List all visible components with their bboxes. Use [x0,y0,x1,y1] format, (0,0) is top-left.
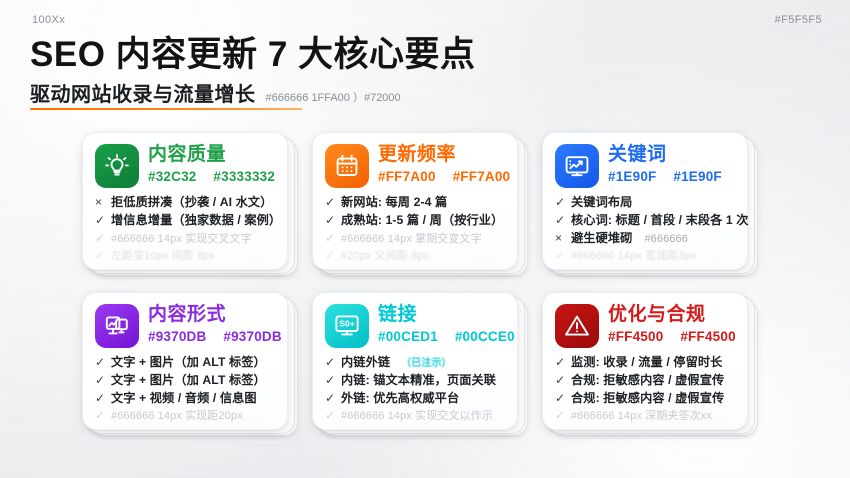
bullet-mark-icon: ✓ [95,390,106,408]
bullet-mark-icon: ✓ [555,247,566,265]
corner-tag-right: #F5F5F5 [775,14,822,26]
bullet-text: 避生硬堆砌 [571,230,632,248]
card-hex-primary: #32C32 [148,169,197,184]
bullet-mark-icon: ✓ [325,372,336,390]
bullet-text: #666666 14px 深期夹筌次xx [571,408,712,424]
monitor-chart-icon [555,144,599,188]
card-hex-codes: #32C32 #3333332 [148,169,275,184]
card-header: 内容质量 #32C32 #3333332 [95,144,277,188]
card-bullet: ✓ 核心词: 标题 / 首段 / 末段各 1 次 [555,212,737,230]
subtitle-row: 驱动网站收录与流量增长 #666666 1FFA00 ）#72000 [30,78,401,107]
card-bullet: ✓ #666666 14px 宽润距3px [555,247,737,265]
bullet-text: #666666 14px 掌期交变文字 [341,231,482,247]
card-bullet: × 拒低质拼凑（抄袭 / AI 水文） [95,194,277,212]
bullet-tag: （已注示） [401,357,452,372]
bullet-text: 文字 + 视频 / 音频 / 信息图 [111,390,257,408]
card-header: 关键词 #1E90F #1E90F [555,144,737,188]
card-hex-codes: #FF4500 #FF4500 [608,329,736,344]
image-screen-icon [95,304,139,348]
bullet-text: 核心词: 标题 / 首段 / 末段各 1 次 [571,212,749,230]
card-bullet: ✓ #666666 14px 深期夹筌次xx [555,407,737,425]
warning-triangle-icon [555,304,599,348]
bullet-mark-icon: ✓ [555,212,566,230]
card-header: 更新频率 #FF7A00 #FF7A00 [325,144,507,188]
card-grid: 内容质量 #32C32 #3333332 × 拒低质拼凑（抄袭 / AI 水文）… [82,132,754,434]
card-bullet: ✓ 内链: 锚文本精准，页面关联 [325,372,507,390]
card-hex-secondary: #1E90F [673,169,721,184]
card-hex-primary: #FF7A00 [378,169,436,184]
card-bullet: ✓ 文字 + 视频 / 音频 / 信息图 [95,390,277,408]
bullet-mark-icon: ✓ [325,194,336,212]
card-face[interactable]: 内容质量 #32C32 #3333332 × 拒低质拼凑（抄袭 / AI 水文）… [82,132,288,270]
card-bullet: ✓ 监测: 收录 / 流量 / 停留时长 [555,354,737,372]
card-heading-block: 优化与合规 #FF4500 #FF4500 [608,304,736,344]
card-title: 优化与合规 [608,305,736,326]
card-face[interactable]: 关键词 #1E90F #1E90F ✓ 关键词布局 ✓ 核心词: 标题 / 首段… [542,132,748,270]
card-bullet-list: ✓ 文字 + 图片（加 ALT 标签） ✓ 文字 + 图片（加 ALT 标签） … [95,354,277,425]
bullet-mark-icon: ✓ [555,390,566,408]
bullet-mark-icon: ✓ [95,372,106,390]
card-hex-codes: #9370DB #9370DB [148,329,277,344]
card-bullet: ✓ 合规: 拒敏感内容 / 虚假宣传 [555,390,737,408]
bullet-mark-icon: ✓ [95,212,106,230]
card-bullet: ✓ 关键词布局 [555,194,737,212]
card-content-quality[interactable]: 内容质量 #32C32 #3333332 × 拒低质拼凑（抄袭 / AI 水文）… [82,132,294,274]
card-bullet: ✓ 增信息增量（独家数据 / 案例） [95,212,277,230]
bullet-mark-icon: × [555,230,566,248]
bullet-mark-icon: ✓ [95,230,106,248]
bullet-mark-icon: ✓ [325,247,336,265]
card-title: 链接 [378,305,507,326]
card-heading-block: 内容质量 #32C32 #3333332 [148,144,275,184]
card-hex-secondary: #FF4500 [680,329,735,344]
card-bullet-list: ✓ 关键词布局 ✓ 核心词: 标题 / 首段 / 末段各 1 次 × 避生硬堆砌… [555,194,737,265]
card-header: S0+ 链接 #00CED1 #00CCE0 [325,304,507,348]
card-hex-codes: #00CED1 #00CCE0 [378,329,507,344]
bullet-mark-icon: ✓ [555,354,566,372]
bullet-text: 文字 + 图片（加 ALT 标签） [111,354,266,372]
bullet-mark-icon: ✓ [325,212,336,230]
card-bullet: ✓ 成熟站: 1-5 篇 / 周（按行业） [325,212,507,230]
bullet-mark-icon: ✓ [555,372,566,390]
card-bullet: ✓ #666666 14px 掌期交变文字 [325,230,507,248]
card-bullet: ✓ #20px 义间距 8px [325,247,507,265]
card-hex-codes: #1E90F #1E90F [608,169,722,184]
bullet-text: 拒低质拼凑（抄袭 / AI 水文） [111,194,273,212]
bullet-text: 增信息增量（独家数据 / 案例） [111,212,281,230]
card-face[interactable]: 内容形式 #9370DB #9370DB ✓ 文字 + 图片（加 ALT 标签）… [82,292,288,430]
card-keywords[interactable]: 关键词 #1E90F #1E90F ✓ 关键词布局 ✓ 核心词: 标题 / 首段… [542,132,754,274]
bullet-mark-icon: ✓ [95,407,106,425]
bullet-mark-icon: ✓ [95,247,106,265]
bullet-mark-icon: ✓ [325,390,336,408]
card-hex-primary: #FF4500 [608,329,663,344]
monitor-s0-icon: S0+ [325,304,369,348]
bullet-text: 成熟站: 1-5 篇 / 周（按行业） [341,212,503,230]
bullet-mark-icon: ✓ [325,407,336,425]
card-heading-block: 更新频率 #FF7A00 #FF7A00 [378,144,507,184]
bullet-text: 左距变10px 间距 8px [111,248,215,264]
bullet-text: 文字 + 图片（加 ALT 标签） [111,372,266,390]
card-bullet-list: ✓ 内链外链（已注示） ✓ 内链: 锚文本精准，页面关联 ✓ 外链: 优先高权威… [325,354,507,425]
card-bullet: ✓ 文字 + 图片（加 ALT 标签） [95,372,277,390]
card-title: 关键词 [608,145,722,166]
bullet-text: 合规: 拒敏感内容 / 虚假宣传 [571,390,724,408]
card-bullet: × 避生硬堆砌#666666 [555,230,737,248]
card-hex-secondary: #9370DB [223,329,281,344]
card-bullet: ✓ #666666 14px 实现交叉文字 [95,230,277,248]
bullet-mark-icon: ✓ [555,407,566,425]
card-bullet-list: ✓ 新网站: 每周 2-4 篇 ✓ 成熟站: 1-5 篇 / 周（按行业） ✓ … [325,194,507,265]
slide-canvas: 100Xx #F5F5F5 SEO 内容更新 7 大核心要点 驱动网站收录与流量… [0,0,850,478]
slide-header: 100Xx #F5F5F5 SEO 内容更新 7 大核心要点 驱动网站收录与流量… [0,0,850,118]
card-face[interactable]: 更新频率 #FF7A00 #FF7A00 ✓ 新网站: 每周 2-4 篇 ✓ 成… [312,132,518,270]
card-title: 更新频率 [378,145,507,166]
bullet-mark-icon: ✓ [325,354,336,372]
card-update-frequency[interactable]: 更新频率 #FF7A00 #FF7A00 ✓ 新网站: 每周 2-4 篇 ✓ 成… [312,132,524,274]
card-header: 优化与合规 #FF4500 #FF4500 [555,304,737,348]
card-title: 内容质量 [148,145,275,166]
bullet-text: 监测: 收录 / 流量 / 停留时长 [571,354,722,372]
page-subtitle: 驱动网站收录与流量增长 [30,78,256,107]
card-heading-block: 链接 #00CED1 #00CCE0 [378,304,507,344]
card-hex-codes: #FF7A00 #FF7A00 [378,169,507,184]
bullet-text: 外链: 优先高权威平台 [341,390,459,408]
bullet-text: 内链外链 [341,354,390,372]
card-hex-primary: #00CED1 [378,329,438,344]
card-links[interactable]: S0+ 链接 #00CED1 #00CCE0 ✓ 内链外链（已注示） [312,292,524,434]
card-header: 内容形式 #9370DB #9370DB [95,304,277,348]
card-hex-secondary: #FF7A00 [453,169,511,184]
bullet-text: #666666 14px 实现交文以作示 [341,408,493,424]
card-content-format[interactable]: 内容形式 #9370DB #9370DB ✓ 文字 + 图片（加 ALT 标签）… [82,292,294,434]
bullet-mark-icon: ✓ [325,230,336,248]
card-hex-primary: #1E90F [608,169,656,184]
bullet-text: #20px 义间距 8px [341,248,429,264]
calendar-icon [325,144,369,188]
bullet-note: #666666 [644,231,688,247]
card-face[interactable]: S0+ 链接 #00CED1 #00CCE0 ✓ 内链外链（已注示） [312,292,518,430]
card-bullet: ✓ 外链: 优先高权威平台 [325,390,507,408]
bullet-text: 新网站: 每周 2-4 篇 [341,194,447,212]
bullet-text: 合规: 拒敏感内容 / 虚假宣传 [571,372,724,390]
card-bullet: ✓ 合规: 拒敏感内容 / 虚假宣传 [555,372,737,390]
card-bullet-list: ✓ 监测: 收录 / 流量 / 停留时长 ✓ 合规: 拒敏感内容 / 虚假宣传 … [555,354,737,425]
accent-underline [30,108,302,110]
card-bullet: ✓ 左距变10px 间距 8px [95,247,277,265]
svg-text:S0+: S0+ [339,318,355,328]
card-bullet: ✓ #666666 14px 实现交文以作示 [325,407,507,425]
bullet-text: 内链: 锚文本精准，页面关联 [341,372,496,390]
bullet-text: 关键词布局 [571,194,632,212]
card-hex-secondary: #00CCE0 [455,329,515,344]
page-title: SEO 内容更新 7 大核心要点 [30,26,476,77]
card-face[interactable]: 优化与合规 #FF4500 #FF4500 ✓ 监测: 收录 / 流量 / 停留… [542,292,748,430]
bullet-mark-icon: × [95,194,106,212]
card-heading-block: 内容形式 #9370DB #9370DB [148,304,277,344]
card-hex-secondary: #3333332 [213,169,275,184]
subtitle-spec-note: #666666 1FFA00 ）#72000 [266,89,401,107]
card-title: 内容形式 [148,305,277,326]
lightbulb-icon [95,144,139,188]
card-bullet-list: × 拒低质拼凑（抄袭 / AI 水文） ✓ 增信息增量（独家数据 / 案例） ✓… [95,194,277,265]
card-heading-block: 关键词 #1E90F #1E90F [608,144,722,184]
card-hex-primary: #9370DB [148,329,206,344]
card-bullet: ✓ 内链外链（已注示） [325,354,507,372]
bullet-mark-icon: ✓ [555,194,566,212]
card-optimization-compliance[interactable]: 优化与合规 #FF4500 #FF4500 ✓ 监测: 收录 / 流量 / 停留… [542,292,754,434]
bullet-text: #666666 14px 实现交叉文字 [111,231,252,247]
card-bullet: ✓ 文字 + 图片（加 ALT 标签） [95,354,277,372]
bullet-text: #666666 14px 宽润距3px [571,248,696,264]
card-bullet: ✓ #666666 14px 实现距20px [95,407,277,425]
corner-tag-left: 100Xx [32,14,65,26]
bullet-text: #666666 14px 实现距20px [111,408,243,424]
bullet-mark-icon: ✓ [95,354,106,372]
card-bullet: ✓ 新网站: 每周 2-4 篇 [325,194,507,212]
